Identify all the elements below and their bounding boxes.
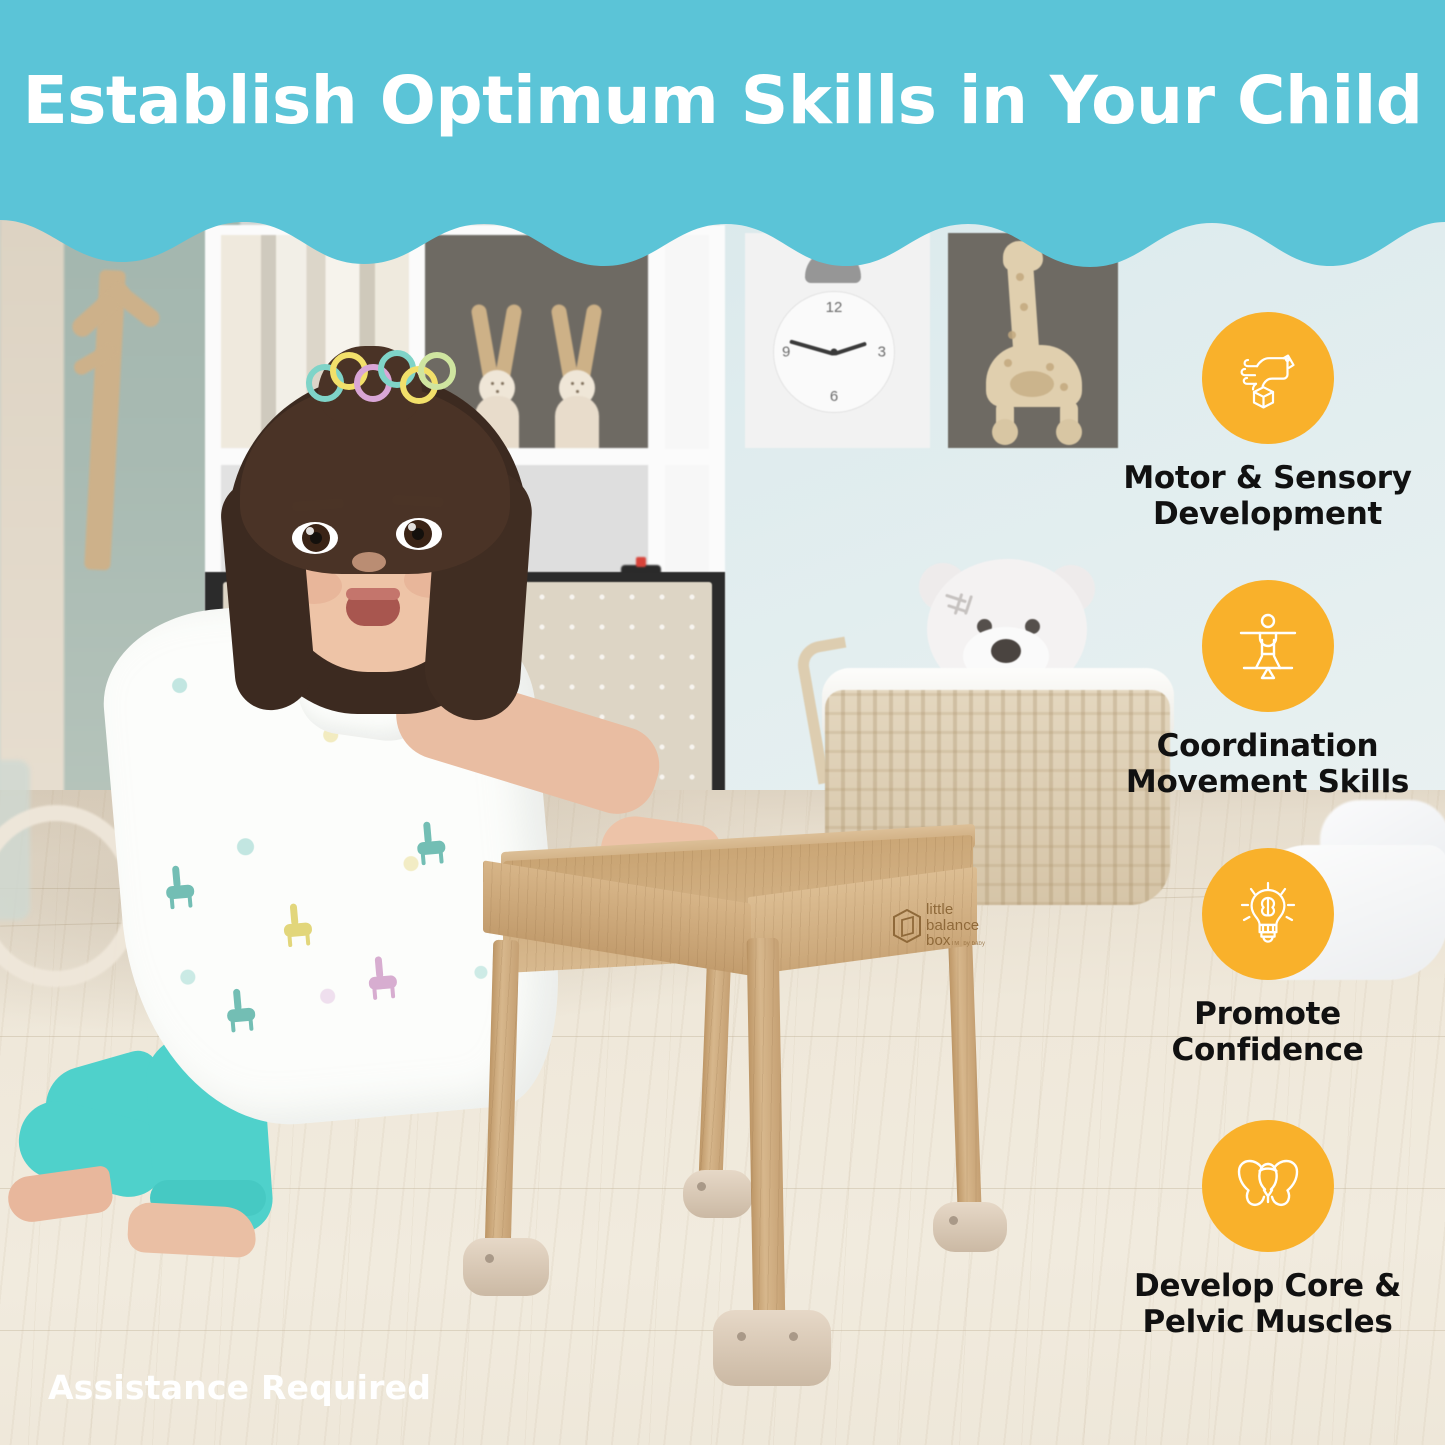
hand-grasping-cube-icon <box>1232 342 1304 414</box>
feature-label-2: Coordination Movement Skills <box>1090 728 1445 801</box>
feature-badge-2 <box>1202 580 1334 712</box>
feature-item-core-pelvic: Develop Core & Pelvic Muscles <box>1090 1120 1445 1341</box>
feature-item-confidence: Promote Confidence <box>1090 848 1445 1069</box>
table-leg-back-left <box>699 948 732 1181</box>
assistance-required-caption: Assistance Required <box>48 1368 431 1407</box>
table-foot-cap-back-right <box>933 1202 1007 1252</box>
product-marketing-image: 12 3 6 9 <box>0 0 1445 1445</box>
feature-label-4: Develop Core & Pelvic Muscles <box>1090 1268 1445 1341</box>
table-foot-cap-back-left <box>683 1170 753 1218</box>
logo-subtitle: by baby <box>963 941 985 947</box>
clock-number-9: 9 <box>782 344 790 361</box>
nose <box>352 552 386 572</box>
bamboo-balance-table: little balance boxTMby baby <box>455 830 1015 1430</box>
feature-item-motor-sensory: Motor & Sensory Development <box>1090 312 1445 533</box>
feature-label-1: Motor & Sensory Development <box>1090 460 1445 533</box>
table-foot-cap-front-left <box>463 1238 549 1296</box>
table-leg-back-right <box>948 942 981 1215</box>
feature-label-3: Promote Confidence <box>1090 996 1445 1069</box>
product-logo: little balance boxTMby baby <box>892 902 1000 956</box>
header-banner: Establish Optimum Skills in Your Child <box>0 0 1445 270</box>
hair-bow-curls <box>300 346 450 404</box>
foot-left <box>5 1165 114 1225</box>
clock-number-6: 6 <box>830 388 838 405</box>
logo-line-2: balance <box>926 918 985 934</box>
logo-line-3: box <box>926 932 951 949</box>
table-leg-front-left <box>485 940 520 1251</box>
clock-number-3: 3 <box>878 344 886 361</box>
logo-line-1: little <box>926 902 985 918</box>
feature-badge-4 <box>1202 1120 1334 1252</box>
lightbulb-brain-icon <box>1232 878 1304 950</box>
pelvis-bone-icon <box>1230 1150 1306 1222</box>
logo-trademark: TM <box>951 941 960 947</box>
feature-list: Motor & Sensory Development Coordinatio <box>1090 300 1445 1410</box>
eye-right <box>396 518 442 550</box>
clock-number-12: 12 <box>826 299 843 316</box>
feature-badge-1 <box>1202 312 1334 444</box>
person-balance-seesaw-icon <box>1232 610 1304 682</box>
table-leg-front-right <box>747 938 786 1326</box>
feature-item-coordination: Coordination Movement Skills <box>1090 580 1445 801</box>
page-title: Establish Optimum Skills in Your Child <box>0 62 1445 139</box>
logo-hexagon-cube-icon <box>892 909 922 943</box>
feature-badge-3 <box>1202 848 1334 980</box>
eye-left <box>292 522 338 554</box>
foot-right <box>127 1202 257 1259</box>
table-foot-cap-front-right <box>713 1310 831 1386</box>
